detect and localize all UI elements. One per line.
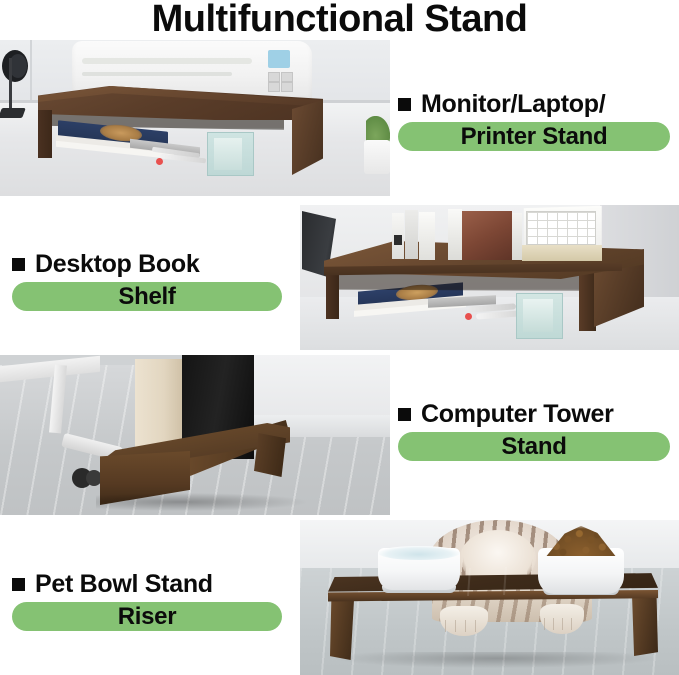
- pet-stand-shadow: [336, 652, 656, 668]
- water-bowl-water-surface: [378, 546, 460, 560]
- feature-text: Monitor/Laptop/: [421, 90, 605, 118]
- feature-pill-badge: Riser: [12, 602, 282, 631]
- square-bullet-icon: [398, 98, 411, 111]
- plant-pot: [364, 140, 390, 174]
- book-cover-mark: [394, 235, 402, 245]
- feature-label-pet-bowl-stand-riser: Pet Bowl Stand Riser: [12, 570, 282, 631]
- printer-button: [281, 72, 293, 82]
- feature-label-desktop-book-shelf: Desktop Book Shelf: [12, 250, 282, 311]
- standing-book: [405, 210, 418, 259]
- pet-stand-right-leg: [632, 592, 658, 656]
- feature-text: Computer Tower: [421, 400, 614, 428]
- pet-stand-left-leg: [330, 596, 354, 660]
- square-bullet-icon: [12, 258, 25, 271]
- wooden-stand-left-leg: [38, 110, 52, 158]
- headphone-stand-base: [0, 108, 26, 118]
- feature-line-1: Computer Tower: [398, 400, 670, 428]
- feature-pill-badge: Printer Stand: [398, 122, 670, 151]
- cat-paw-toes: [544, 618, 580, 630]
- feature-label-computer-tower-stand: Computer Tower Stand: [398, 400, 670, 461]
- infographic-page: Multifunctional Stand: [0, 0, 679, 675]
- standing-book: [392, 213, 404, 259]
- teal-storage-box-contents: [214, 138, 242, 170]
- feature-label-monitor-laptop-printer-stand: Monitor/Laptop/ Printer Stand: [398, 90, 670, 151]
- photo-book-shelf: [300, 205, 679, 350]
- feature-pill-badge: Shelf: [12, 282, 282, 311]
- photo-pet-bowl-stand: [300, 520, 679, 675]
- standing-book: [419, 212, 435, 260]
- calendar-grid: [526, 211, 596, 245]
- feature-line-1: Monitor/Laptop/: [398, 90, 670, 118]
- printer-paper-slot: [82, 58, 252, 64]
- printer-button: [268, 72, 280, 82]
- red-marker-cap: [156, 158, 163, 165]
- standing-book: [448, 209, 462, 260]
- cat-paw-toes: [445, 620, 483, 632]
- standing-book-brown-cover: [462, 211, 512, 260]
- red-marker-cap: [465, 313, 472, 320]
- headphone-stand-post: [9, 58, 12, 110]
- teal-storage-box-contents: [523, 299, 553, 332]
- printer-button: [281, 82, 293, 92]
- feature-text: Desktop Book: [35, 250, 199, 278]
- calendar-base: [522, 245, 602, 261]
- feature-pill-badge: Stand: [398, 432, 670, 461]
- feature-line-1: Pet Bowl Stand: [12, 570, 282, 598]
- printer-output-tray: [82, 72, 232, 76]
- caster-wheel: [86, 470, 102, 486]
- page-title: Multifunctional Stand: [0, 0, 679, 40]
- square-bullet-icon: [12, 578, 25, 591]
- shelf-right-leg: [579, 271, 596, 331]
- printer-display: [268, 50, 290, 68]
- feature-line-1: Desktop Book: [12, 250, 282, 278]
- printer-button: [268, 82, 280, 92]
- riser-leg: [254, 433, 286, 477]
- riser-shadow: [96, 493, 306, 511]
- standing-book: [512, 213, 522, 260]
- photo-printer-stand: [0, 40, 390, 196]
- feature-text: Pet Bowl Stand: [35, 570, 213, 598]
- photo-computer-tower-stand: [0, 355, 390, 515]
- square-bullet-icon: [398, 408, 411, 421]
